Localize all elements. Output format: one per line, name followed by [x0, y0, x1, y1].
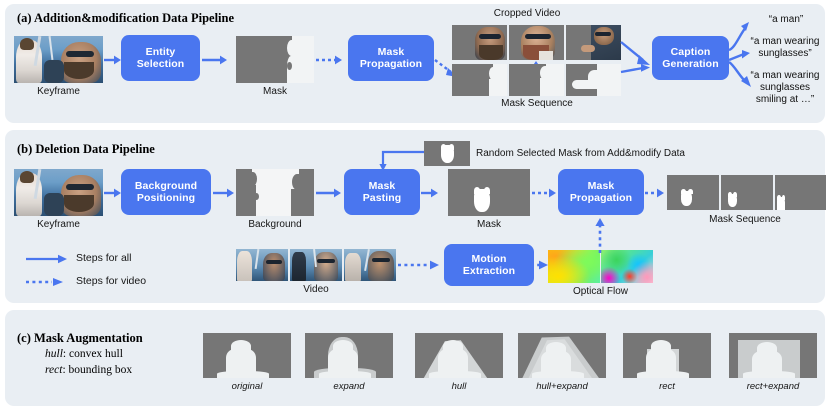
- caption-output-1: “a man”: [744, 14, 828, 26]
- video-frame-2: [290, 249, 342, 281]
- mask-sample-original: [203, 333, 291, 378]
- mask-sample-expand: [305, 333, 393, 378]
- arrow-mask-to-propagation-a: [316, 53, 344, 67]
- mask-sequence-b-frame-2: [721, 175, 773, 210]
- box-background-positioning[interactable]: BackgroundPositioning: [121, 169, 211, 215]
- caption-output-2: “a man wearing sunglasses”: [740, 36, 830, 60]
- box-caption-generation-label: CaptionGeneration: [662, 46, 718, 71]
- mask-label-b: Mask: [448, 219, 530, 230]
- optical-flow-label: Optical Flow: [548, 286, 653, 297]
- panel-b-title: (b) Deletion Data Pipeline: [17, 142, 155, 157]
- mask-sample-original-label: original: [203, 381, 291, 392]
- box-mask-propagation-a-label: MaskPropagation: [360, 46, 422, 71]
- mask-sample-rect: [623, 333, 711, 378]
- background-label: Background: [236, 219, 314, 230]
- mask-sample-hull: [415, 333, 503, 378]
- background-image: [236, 169, 314, 216]
- box-caption-generation[interactable]: CaptionGeneration: [652, 36, 729, 80]
- mask-sample-hull-expand: [518, 333, 606, 378]
- mask-sample-hull-expand-label: hull+expand: [518, 381, 606, 392]
- mask-image-b: [448, 169, 530, 216]
- random-mask-note: Random Selected Mask from Add&modify Dat…: [476, 148, 685, 159]
- box-mask-pasting[interactable]: MaskPasting: [344, 169, 420, 215]
- keyframe-image-a: [14, 36, 103, 83]
- panel-c-title: (c) Mask Augmentation: [17, 331, 143, 346]
- legend-label-steps-for-video: Steps for video: [76, 275, 146, 287]
- mask-sample-rect-expand-label: rect+expand: [729, 381, 817, 392]
- random-selected-mask-image: [424, 141, 470, 166]
- mask-sequence-label-b: Mask Sequence: [680, 214, 810, 225]
- panel-a-title: (a) Addition&modification Data Pipeline: [17, 11, 234, 26]
- box-entity-selection-label: EntitySelection: [137, 46, 185, 71]
- mask-sequence-frame-1: [452, 64, 507, 96]
- mask-image-a: [236, 36, 314, 83]
- box-mask-propagation-b-label: MaskPropagation: [570, 180, 632, 205]
- optical-flow-image-2: [601, 250, 653, 283]
- mask-sequence-label-a: Mask Sequence: [462, 98, 612, 109]
- box-background-positioning-label: BackgroundPositioning: [135, 180, 197, 205]
- box-motion-extraction-label: MotionExtraction: [463, 253, 515, 278]
- mask-sample-rect-expand: [729, 333, 817, 378]
- arrow-pasting-to-mask-b: [421, 186, 439, 200]
- mask-sequence-frame-3: [566, 64, 621, 96]
- box-mask-propagation-b[interactable]: MaskPropagation: [558, 169, 644, 215]
- box-mask-pasting-label: MaskPasting: [363, 180, 402, 205]
- panel-c-rect-def: : bounding box: [62, 364, 132, 376]
- panel-c-hull-term: hull: [45, 348, 63, 360]
- arrow-random-mask-to-pasting: [381, 150, 427, 174]
- box-mask-propagation-a[interactable]: MaskPropagation: [348, 35, 434, 81]
- panel-c-note-hull: hull: convex hull: [45, 348, 123, 360]
- arrow-motion-to-flow: [518, 258, 550, 272]
- legend-label-steps-for-all: Steps for all: [76, 252, 131, 264]
- mask-sample-expand-label: expand: [305, 381, 393, 392]
- arrow-background-to-pasting: [316, 186, 342, 200]
- video-label: Video: [236, 284, 396, 295]
- mask-sample-rect-label: rect: [623, 381, 711, 392]
- video-frame-3: [344, 249, 396, 281]
- panel-c-hull-def: : convex hull: [63, 348, 123, 360]
- keyframe-label-b: Keyframe: [14, 219, 103, 230]
- mask-sequence-frame-2: [509, 64, 564, 96]
- mask-label-a: Mask: [236, 86, 314, 97]
- optical-flow-image-1: [548, 250, 600, 283]
- arrow-bgpos-to-background: [213, 186, 235, 200]
- caption-output-3: “a man wearing sunglasses smiling at …”: [740, 70, 830, 107]
- arrow-video-to-motion: [398, 258, 442, 272]
- mask-sequence-b-frame-1: [667, 175, 719, 210]
- arrow-propagation-to-maskseq-b: [645, 186, 667, 200]
- cropped-video-frame-3: [566, 25, 621, 60]
- arrow-keyframe-to-entity: [104, 53, 122, 67]
- mask-sequence-b-frame-3: [775, 175, 826, 210]
- mask-sample-hull-label: hull: [415, 381, 503, 392]
- legend-arrow-dotted: [26, 276, 68, 288]
- keyframe-image-b: [14, 169, 103, 216]
- legend-arrow-solid: [26, 253, 68, 265]
- keyframe-label-a: Keyframe: [14, 86, 103, 97]
- cropped-video-frame-2: [509, 25, 564, 60]
- panel-c-note-rect: rect: bounding box: [45, 364, 132, 376]
- cropped-video-frame-1: [452, 25, 507, 60]
- arrow-maskseq-to-caption: [621, 62, 653, 78]
- arrow-entity-to-mask: [202, 53, 228, 67]
- panel-c-rect-term: rect: [45, 364, 62, 376]
- video-frame-1: [236, 249, 288, 281]
- arrow-mask-to-propagation-b: [532, 186, 558, 200]
- arrow-keyframe-to-bgpos: [104, 186, 122, 200]
- arrow-flow-to-propagation: [593, 217, 607, 253]
- box-entity-selection[interactable]: EntitySelection: [121, 35, 200, 81]
- cropped-video-label: Cropped Video: [462, 8, 592, 19]
